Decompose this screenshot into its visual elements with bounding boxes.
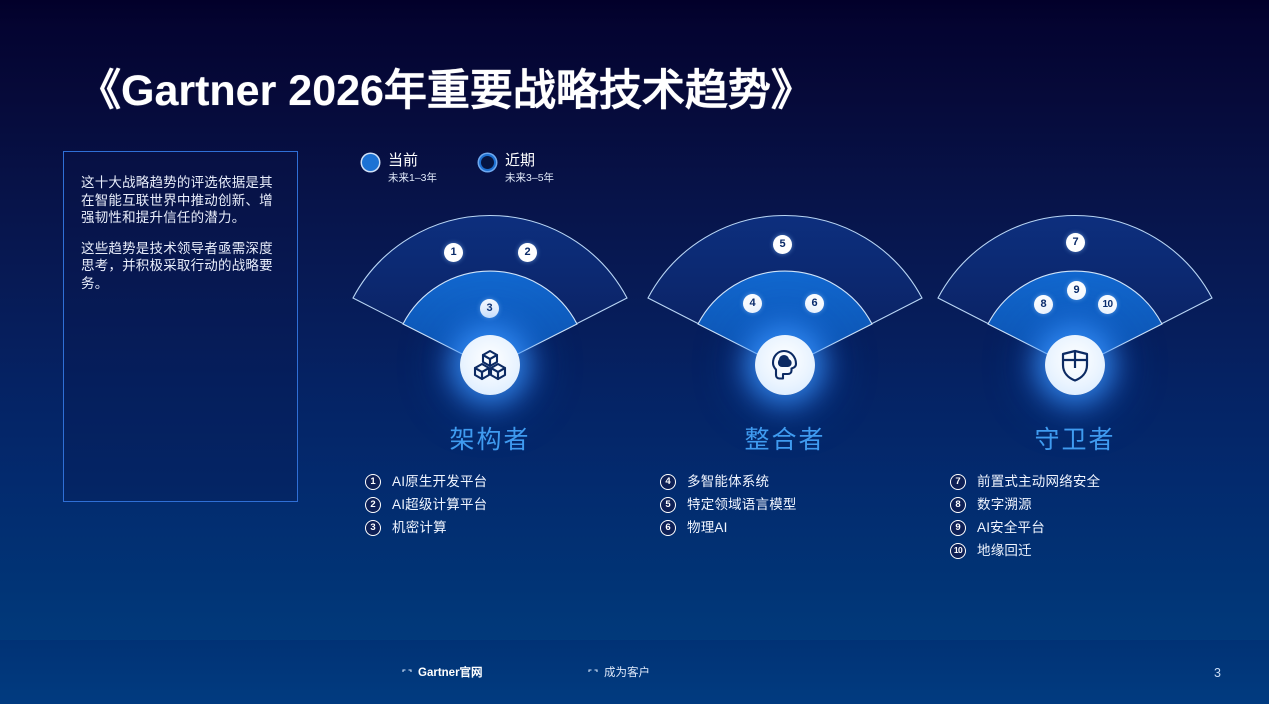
footer-link-label-1: Gartner官网 <box>418 667 483 680</box>
trend-badge-2: 2 <box>365 497 381 513</box>
legend-item-near-term: 近期 未来3–5年 <box>479 152 554 185</box>
legend-sublabel-current: 未来1–3年 <box>388 171 437 185</box>
trend-badge-3: 3 <box>365 520 381 536</box>
trend-label-6: 物理AI <box>687 520 728 536</box>
trend-label-4: 多智能体系统 <box>687 474 769 490</box>
fan-number-badge-7: 7 <box>1066 233 1085 252</box>
footer-link-gartner-website[interactable]: Gartner官网 <box>402 667 483 680</box>
trend-list-integrator: 4 多智能体系统 5 特定领域语言模型 6 物理AI <box>660 474 960 543</box>
fan-group-architect: 1 2 3 <box>340 205 640 410</box>
fan-number-badge-2: 2 <box>518 243 537 262</box>
trend-badge-9: 9 <box>950 520 966 536</box>
intro-textbox: 这十大战略趋势的评选依据是其在智能互联世界中推动创新、增强韧性和提升信任的潜力。… <box>63 151 298 502</box>
trend-badge-5: 5 <box>660 497 676 513</box>
legend-sublabel-near-term: 未来3–5年 <box>505 171 554 185</box>
legend-item-current: 当前 未来1–3年 <box>362 152 437 185</box>
fan-number-badge-1: 1 <box>444 243 463 262</box>
external-link-icon <box>588 669 598 678</box>
legend-dot-hollow-icon <box>479 154 496 171</box>
trend-item: 9 AI安全平台 <box>950 520 1250 536</box>
trend-item: 5 特定领域语言模型 <box>660 497 960 513</box>
fan-number-badge-8: 8 <box>1034 295 1053 314</box>
fan-number-badge-6: 6 <box>805 294 824 313</box>
legend-label-current: 当前 <box>388 152 437 169</box>
footer-bar: Gartner官网 成为客户 3 <box>0 640 1269 704</box>
footer-link-label-2: 成为客户 <box>604 667 650 680</box>
trend-badge-8: 8 <box>950 497 966 513</box>
external-link-icon <box>402 669 412 678</box>
trend-item: 8 数字溯源 <box>950 497 1250 513</box>
fan-number-badge-10: 10 <box>1098 295 1117 314</box>
trend-list-guardian: 7 前置式主动网络安全 8 数字溯源 9 AI安全平台 10 地缘回迁 <box>950 474 1250 566</box>
trend-badge-6: 6 <box>660 520 676 536</box>
trend-badge-4: 4 <box>660 474 676 490</box>
trend-list-architect: 1 AI原生开发平台 2 AI超级计算平台 3 机密计算 <box>365 474 665 543</box>
trend-label-2: AI超级计算平台 <box>392 497 487 513</box>
legend-label-near-term: 近期 <box>505 152 554 169</box>
trend-item: 3 机密计算 <box>365 520 665 536</box>
legend-dot-filled-icon <box>362 154 379 171</box>
trend-badge-1: 1 <box>365 474 381 490</box>
trend-label-7: 前置式主动网络安全 <box>977 474 1100 490</box>
stacked-cubes-icon <box>460 335 520 395</box>
fan-group-guardian: 7 8 9 10 <box>925 205 1225 410</box>
intro-paragraph-1: 这十大战略趋势的评选依据是其在智能互联世界中推动创新、增强韧性和提升信任的潜力。 <box>81 174 282 227</box>
category-title-architect: 架构者 <box>340 420 640 456</box>
trend-label-1: AI原生开发平台 <box>392 474 487 490</box>
fan-number-badge-3: 3 <box>480 299 499 318</box>
trend-item: 4 多智能体系统 <box>660 474 960 490</box>
slide-canvas: 《Gartner 2026年重要战略技术趋势》 这十大战略趋势的评选依据是其在智… <box>0 0 1269 704</box>
legend: 当前 未来1–3年 近期 未来3–5年 <box>362 152 554 185</box>
trend-item: 7 前置式主动网络安全 <box>950 474 1250 490</box>
trend-label-8: 数字溯源 <box>977 497 1032 513</box>
trend-item: 2 AI超级计算平台 <box>365 497 665 513</box>
trend-item: 1 AI原生开发平台 <box>365 474 665 490</box>
trend-label-10: 地缘回迁 <box>977 543 1032 559</box>
shield-icon <box>1045 335 1105 395</box>
head-brain-icon <box>755 335 815 395</box>
page-title: 《Gartner 2026年重要战略技术趋势》 <box>78 56 814 118</box>
trend-item: 10 地缘回迁 <box>950 543 1250 559</box>
trend-badge-10: 10 <box>950 543 966 559</box>
fan-number-badge-4: 4 <box>743 294 762 313</box>
intro-paragraph-2: 这些趋势是技术领导者亟需深度思考，并积极采取行动的战略要务。 <box>81 240 282 293</box>
fan-group-integrator: 5 4 6 <box>635 205 935 410</box>
category-title-integrator: 整合者 <box>635 420 935 456</box>
trend-label-5: 特定领域语言模型 <box>687 497 797 513</box>
footer-link-become-client[interactable]: 成为客户 <box>588 667 650 680</box>
trend-item: 6 物理AI <box>660 520 960 536</box>
trend-badge-7: 7 <box>950 474 966 490</box>
trend-label-9: AI安全平台 <box>977 520 1045 536</box>
page-number: 3 <box>1214 666 1221 680</box>
category-title-guardian: 守卫者 <box>925 420 1225 456</box>
fan-number-badge-5: 5 <box>773 235 792 254</box>
trend-label-3: 机密计算 <box>392 520 447 536</box>
fan-number-badge-9: 9 <box>1067 281 1086 300</box>
